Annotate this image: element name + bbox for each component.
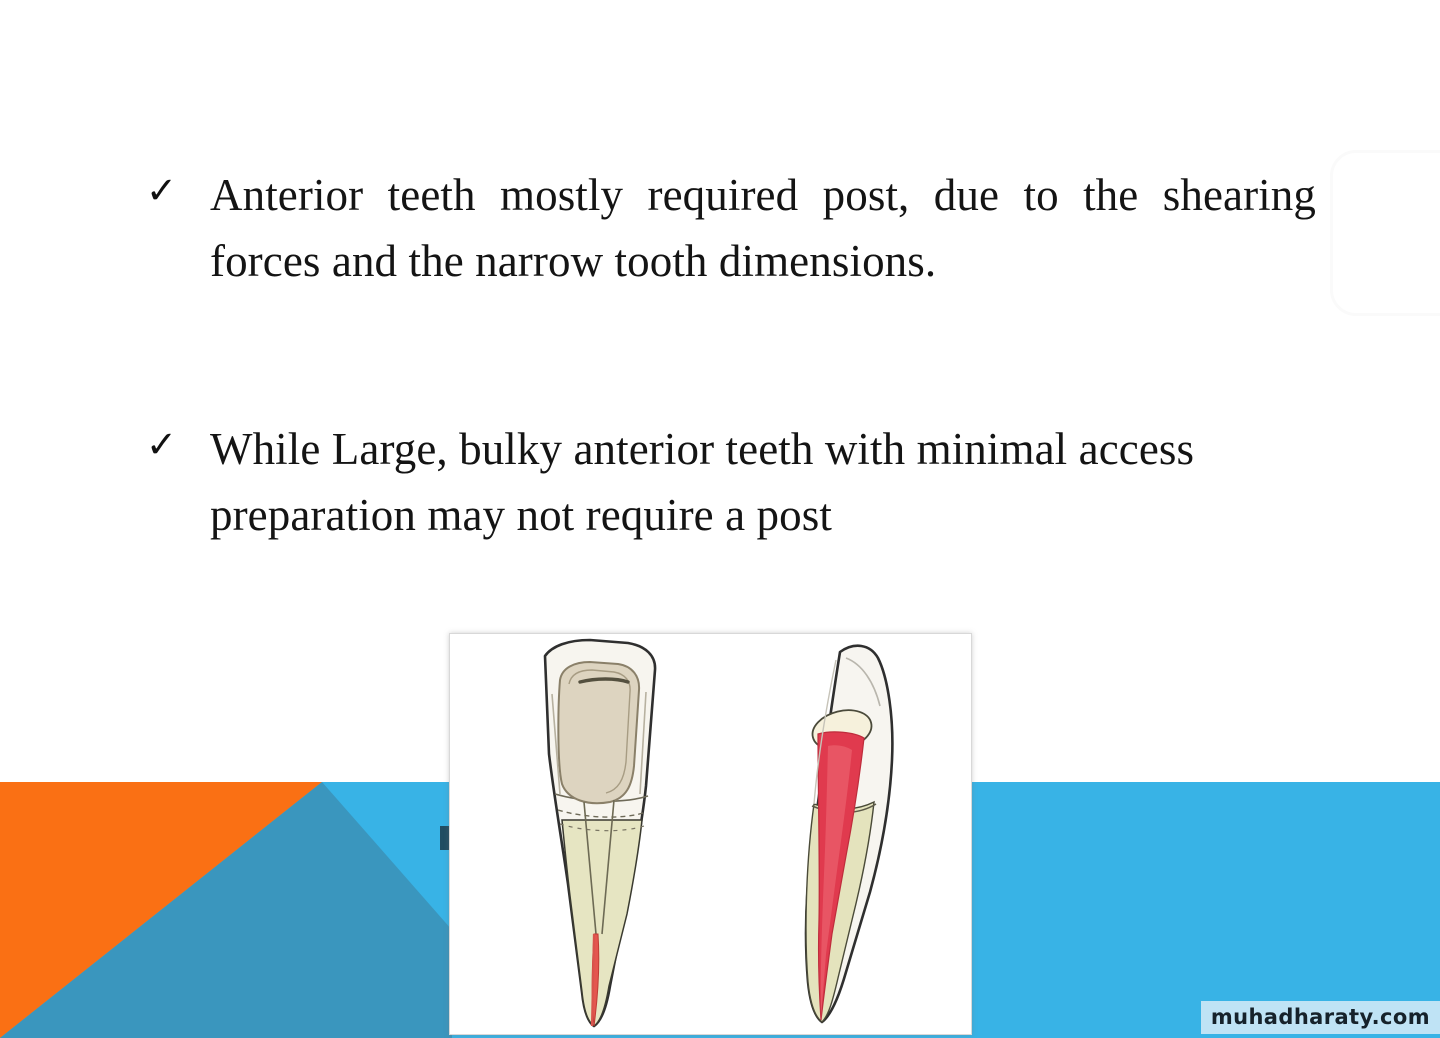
check-icon: ✓	[146, 162, 210, 209]
check-icon: ✓	[146, 416, 210, 463]
ghost-frame-artifact	[1330, 150, 1440, 316]
right-tooth-diagram	[806, 646, 892, 1022]
teal-triangle	[0, 782, 452, 1038]
watermark: muhadharaty.com	[1201, 1001, 1440, 1034]
list-item: ✓ While Large, bulky anterior teeth with…	[146, 416, 1316, 548]
orange-wedge	[0, 782, 322, 1038]
slide-canvas: ✓ Anterior teeth mostly required post, d…	[0, 0, 1440, 1038]
list-item-text: Anterior teeth mostly required post, due…	[210, 162, 1316, 294]
left-tooth-root-dentin	[562, 820, 642, 1026]
tooth-illustration-panel	[449, 633, 972, 1035]
list-item: ✓ Anterior teeth mostly required post, d…	[146, 162, 1316, 294]
left-tooth-diagram	[545, 640, 655, 1026]
tooth-illustration	[450, 634, 971, 1034]
list-item-text: While Large, bulky anterior teeth with m…	[210, 416, 1316, 548]
bullet-list: ✓ Anterior teeth mostly required post, d…	[146, 162, 1316, 549]
